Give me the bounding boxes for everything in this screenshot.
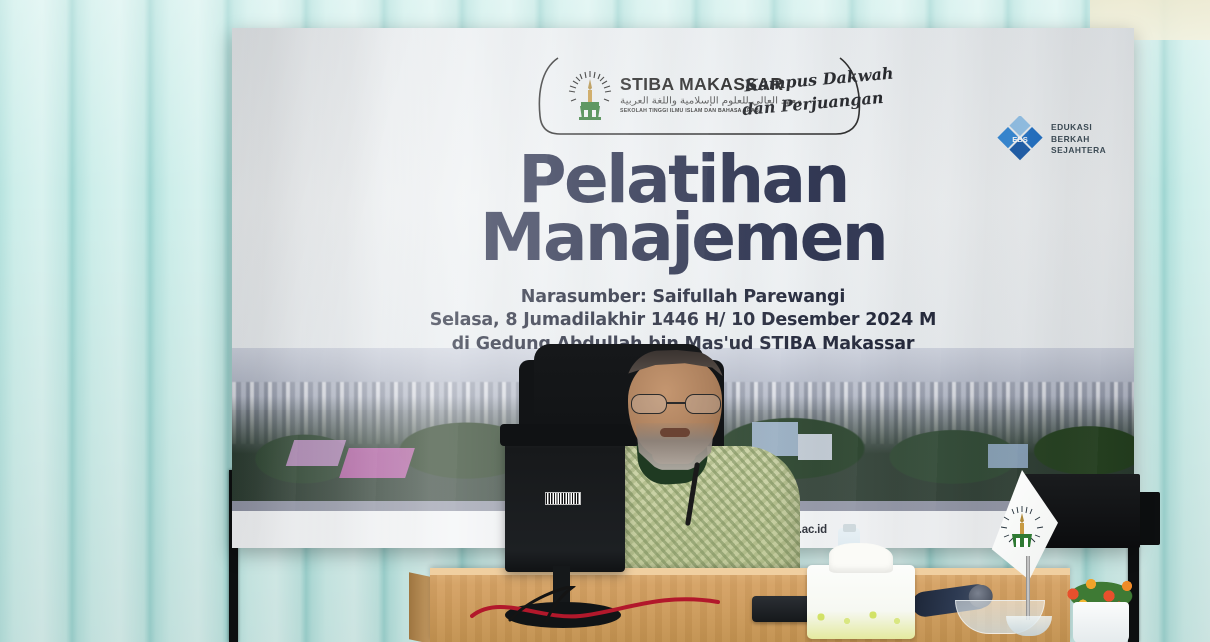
banner-logo-row: STIBA MAKASSAR معهد العالي للعلوم الإسلا… (232, 64, 1134, 136)
monitor-top-bezel (500, 424, 630, 446)
water-bottle-cap (843, 524, 856, 532)
stiba-flag-emblem-icon (998, 504, 1046, 552)
flag-pole (1026, 556, 1030, 620)
tissue-sheet (829, 543, 893, 573)
ebs-line-1: EDUKASI (1051, 123, 1106, 132)
speaker-mouth (660, 428, 690, 437)
eyeglasses-icon (630, 394, 722, 414)
screenshot-scene: STIBA MAKASSAR معهد العالي للعلوم الإسلا… (0, 0, 1210, 642)
subhead-speaker: Narasumber: Saifullah Parewangi (232, 286, 1134, 309)
tissue-box (807, 565, 915, 639)
flower-pot (1057, 562, 1145, 642)
monitor-barcode-label (545, 492, 581, 505)
brand-tagline-script: Kampus Dakwah dan Perjuangan (742, 68, 867, 130)
lens-left (631, 394, 667, 414)
tissue-box-pattern (807, 605, 915, 629)
ebs-line-2: BERKAH (1051, 135, 1106, 144)
stiba-mosque-logo-icon (567, 70, 613, 120)
svg-text:EBS: EBS (1012, 135, 1027, 144)
subhead-date: Selasa, 8 Jumadilakhir 1446 H/ 10 Desemb… (232, 309, 1134, 332)
headline-line-2: Manajemen (232, 208, 1134, 269)
banner-headline: Pelatihan Manajemen (232, 150, 1134, 268)
photo-roof (339, 448, 415, 478)
photo-roof (286, 440, 346, 466)
flag-base (1006, 616, 1052, 636)
lens-bridge (667, 402, 685, 404)
computer-monitor (505, 432, 625, 572)
lens-right (685, 394, 721, 414)
photo-building (798, 434, 832, 460)
pot (1073, 602, 1129, 642)
photo-building (988, 444, 1028, 468)
red-cable (470, 586, 720, 622)
